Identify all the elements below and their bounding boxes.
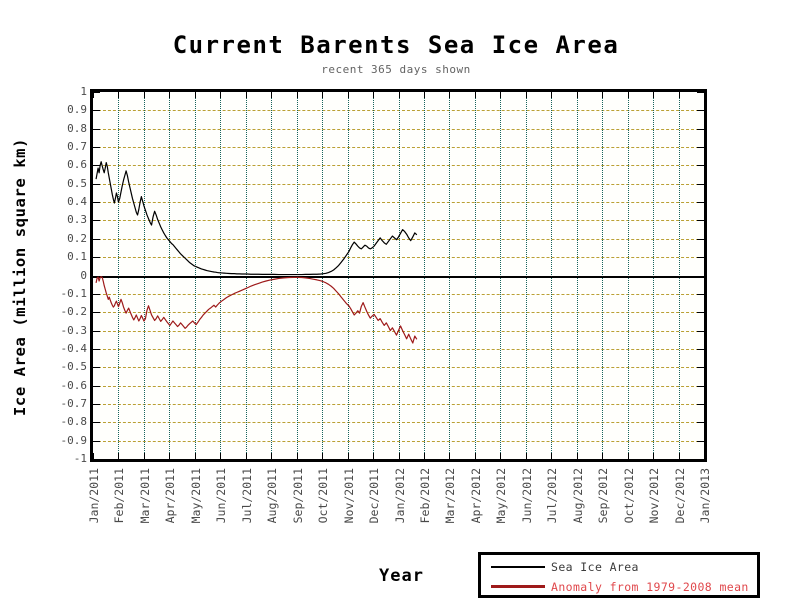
x-tick-label: May/2012 [494,468,507,548]
y-tick-label: -0.6 [27,380,87,391]
y-tick-label: 0.3 [27,214,87,225]
y-tick-label: 1 [27,86,87,97]
chart-legend: Sea Ice Area Anomaly from 1979-2008 mean [478,552,760,598]
legend-label: Anomaly from 1979-2008 mean [551,580,749,594]
y-tick-label: -0.4 [27,343,87,354]
x-tick-label: May/2011 [189,468,202,548]
plot-inner [93,92,704,459]
y-tick-label: -0.2 [27,306,87,317]
x-tick-label: Oct/2012 [622,468,635,548]
y-tick-label: 0.6 [27,159,87,170]
x-tick-label: Nov/2012 [647,468,660,548]
x-tick-label: Feb/2012 [418,468,431,548]
chart-subtitle: recent 365 days shown [0,63,792,76]
series-line-sea-ice-area [96,162,417,275]
y-tick-mark [697,459,704,460]
legend-line-swatch-black [491,566,545,568]
y-tick-label: -0.3 [27,325,87,336]
series-line-anomaly-from-1979-2008-mean [96,277,417,343]
y-tick-label: 0.7 [27,141,87,152]
legend-line-swatch-red [491,585,545,588]
x-tick-label: Jul/2011 [240,468,253,548]
chart-title: Current Barents Sea Ice Area [0,31,792,59]
y-tick-label: 0.2 [27,233,87,244]
x-tick-label: Aug/2011 [265,468,278,548]
x-tick-label: Jan/2011 [87,468,100,548]
x-tick-label: Jul/2012 [545,468,558,548]
y-tick-label: -0.5 [27,361,87,372]
y-tick-label: 0.1 [27,251,87,262]
x-tick-label: Nov/2011 [342,468,355,548]
y-tick-label: -0.1 [27,288,87,299]
x-tick-label: Sep/2011 [291,468,304,548]
x-tick-label: Feb/2011 [112,468,125,548]
x-tick-label: Dec/2012 [673,468,686,548]
y-tick-label: 0 [27,270,87,281]
x-tick-label: Apr/2011 [163,468,176,548]
chart-container: Current Barents Sea Ice Area recent 365 … [0,0,792,612]
x-tick-label: Oct/2011 [316,468,329,548]
y-tick-label: -0.9 [27,435,87,446]
x-tick-label: Aug/2012 [571,468,584,548]
y-tick-mark [93,459,100,460]
plot-area [90,89,707,462]
y-tick-label: -0.8 [27,416,87,427]
legend-item-anomaly: Anomaly from 1979-2008 mean [481,575,757,598]
x-tick-label: Jun/2011 [214,468,227,548]
data-series-layer [93,92,704,459]
x-tick-label: Jan/2013 [698,468,711,548]
x-tick-label: Sep/2012 [596,468,609,548]
y-tick-label: -0.7 [27,398,87,409]
x-tick-label: Apr/2012 [469,468,482,548]
x-tick-label: Dec/2011 [367,468,380,548]
y-tick-label: 0.5 [27,178,87,189]
y-tick-label: 0.9 [27,104,87,115]
legend-label: Sea Ice Area [551,560,639,574]
x-tick-label: Jan/2012 [393,468,406,548]
y-tick-label: 0.8 [27,123,87,134]
y-tick-label: 0.4 [27,196,87,207]
x-tick-label: Jun/2012 [520,468,533,548]
x-tick-label: Mar/2011 [138,468,151,548]
y-tick-label: -1 [27,453,87,464]
x-tick-mark [704,453,705,459]
x-tick-label: Mar/2012 [443,468,456,548]
x-tick-mark [704,92,705,98]
